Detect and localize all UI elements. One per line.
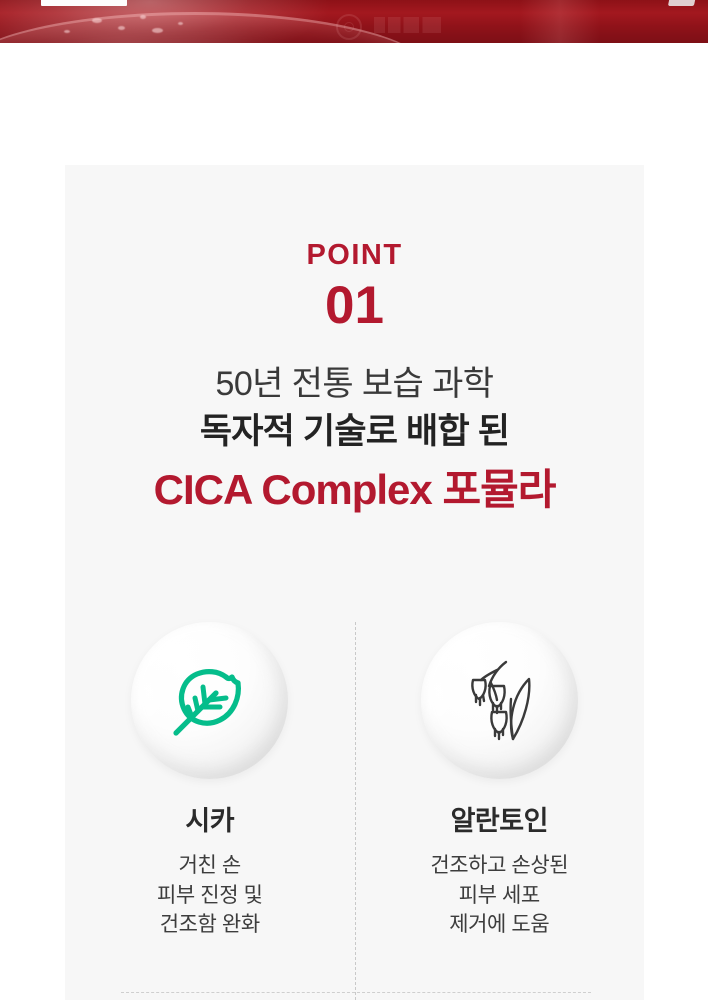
headline-line-1: 50년 전통 보습 과학 — [65, 364, 644, 405]
ingredient-desc-line-3: 건조함 완화 — [157, 910, 262, 940]
point-badge: POINT 01 — [65, 241, 644, 332]
centella-leaf-icon — [168, 659, 252, 743]
specular-highlight — [178, 22, 183, 25]
product-detail-page: POINT 01 50년 전통 보습 과학 독자적 기술로 배합 된 CICA … — [0, 0, 708, 1000]
ingredient-card-cica: 시카 거친 손 피부 진정 및 건조함 완화 — [65, 622, 355, 940]
ingredient-name: 알란토인 — [451, 807, 548, 837]
ingredient-name: 시카 — [185, 807, 234, 837]
horizontal-dotted-divider — [121, 992, 591, 993]
ingredient-desc-line-2: 피부 진정 및 — [157, 881, 262, 911]
product-label-patch — [41, 0, 127, 6]
ingredient-card-allantoin: 알란토인 건조하고 손상된 피부 세포 제거에 도움 — [355, 622, 645, 940]
comfrey-flower-icon — [456, 655, 542, 747]
photo-corner-chip — [668, 0, 698, 6]
point-section-card: POINT 01 50년 전통 보습 과학 독자적 기술로 배합 된 CICA … — [65, 165, 644, 1000]
embossed-brand-text — [374, 17, 452, 33]
jar-rim-highlight — [0, 12, 430, 43]
specular-highlight — [140, 15, 146, 19]
ingredient-desc-line-3: 제거에 도움 — [430, 910, 568, 940]
ingredient-desc-line-2: 피부 세포 — [430, 881, 568, 911]
section-headline: 50년 전통 보습 과학 독자적 기술로 배합 된 CICA Complex 포… — [65, 364, 644, 515]
specular-highlight — [152, 28, 163, 33]
headline-line-2: 독자적 기술로 배합 된 — [65, 411, 644, 453]
specular-highlight — [64, 30, 70, 33]
ingredient-desc-line-1: 거친 손 — [157, 851, 262, 881]
ingredient-columns: 시카 거친 손 피부 진정 및 건조함 완화 — [65, 622, 644, 940]
ingredient-description: 건조하고 손상된 피부 세포 제거에 도움 — [430, 851, 568, 940]
photo-sheen — [520, 0, 600, 43]
ingredient-bubble — [421, 622, 578, 779]
embossed-logo-inner-icon — [344, 22, 354, 32]
point-label: POINT — [65, 241, 644, 270]
headline-line-3: CICA Complex 포뮬라 — [65, 465, 644, 515]
specular-highlight — [118, 26, 125, 30]
point-number: 01 — [65, 279, 644, 332]
product-photo-strip — [0, 0, 708, 43]
ingredient-bubble — [131, 622, 288, 779]
specular-highlight — [92, 18, 102, 23]
ingredient-desc-line-1: 건조하고 손상된 — [430, 851, 568, 881]
ingredient-description: 거친 손 피부 진정 및 건조함 완화 — [157, 851, 262, 940]
